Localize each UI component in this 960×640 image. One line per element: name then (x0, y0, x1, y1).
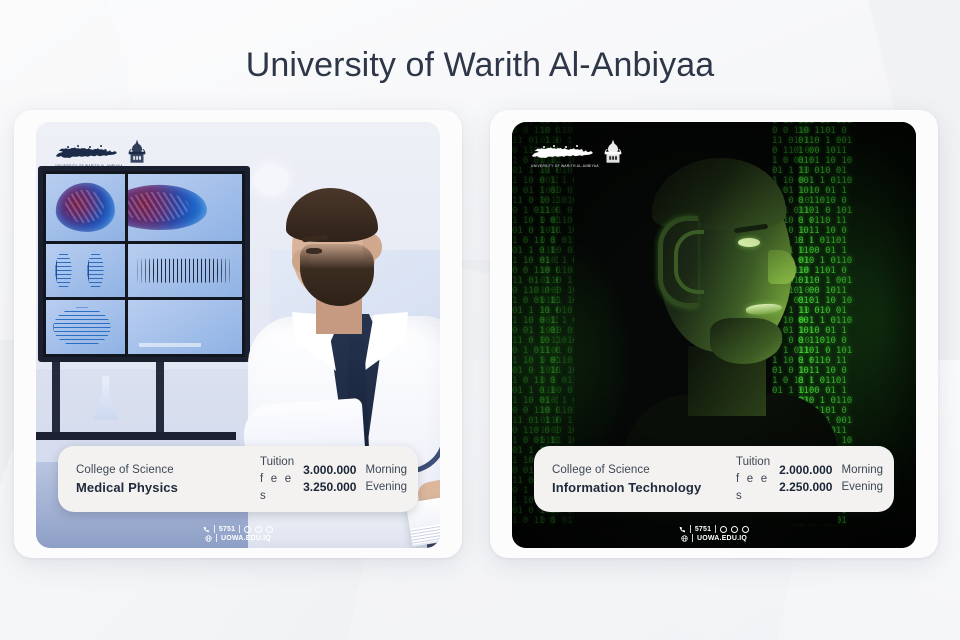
brain-scan-monitor (38, 166, 250, 362)
college-label: College of Science (552, 464, 724, 476)
fees-label-line2: f e e s (260, 471, 294, 505)
fee-amount-morning: 3.000.000 (303, 462, 356, 479)
program-info: College of Science Medical Physics (76, 464, 248, 495)
monitor-base (36, 432, 236, 440)
info-panel-information-technology: College of Science Information Technolog… (534, 446, 894, 512)
card-image-medical-physics: UNIVERSITY OF WARITH AL-ANBIYAA (36, 122, 440, 548)
fee-shift-evening: Evening (841, 479, 883, 496)
fees-block: Tuition f e e s 2.000.000 2.250.000 Morn… (736, 454, 883, 505)
card-information-technology[interactable]: 1 0 11 0 01 1 0 1 1 10 01 1 0 0 110 0 11… (490, 110, 938, 558)
fees-label: Tuition f e e s (260, 454, 294, 505)
scan-dna-pair (46, 244, 125, 298)
major-label: Medical Physics (76, 480, 248, 495)
scan-brain-axial (46, 174, 125, 241)
major-label: Information Technology (552, 480, 724, 495)
info-panel-medical-physics: College of Science Medical Physics Tuiti… (58, 446, 418, 512)
fees-label-line1: Tuition (736, 454, 770, 471)
fees-amounts: 3.000.000 3.250.000 (303, 462, 356, 496)
fee-shift-morning: Morning (841, 462, 883, 479)
fees-label-line1: Tuition (260, 454, 294, 471)
fees-shifts: Morning Evening (841, 462, 883, 496)
fee-amount-morning: 2.000.000 (779, 462, 832, 479)
program-info: College of Science Information Technolog… (552, 464, 724, 495)
fee-shift-evening: Evening (365, 479, 407, 496)
scan-readout (128, 300, 242, 354)
fee-shift-morning: Morning (365, 462, 407, 479)
lab-flask (93, 376, 119, 420)
fees-shifts: Morning Evening (365, 462, 407, 496)
fee-amount-evening: 3.250.000 (303, 479, 356, 496)
page-title: University of Warith Al-Anbiyaa (0, 46, 960, 85)
fees-label: Tuition f e e s (736, 454, 770, 505)
monitor-stand (156, 362, 164, 434)
fees-amounts: 2.000.000 2.250.000 (779, 462, 832, 496)
fee-amount-evening: 2.250.000 (779, 479, 832, 496)
card-image-information-technology: 1 0 11 0 01 1 0 1 1 10 01 1 0 0 110 0 11… (512, 122, 916, 548)
hair (286, 188, 378, 242)
scan-waveform (128, 244, 242, 298)
scan-brain-sagittal (128, 174, 242, 241)
monitor-stand (52, 362, 60, 434)
fees-label-line2: f e e s (736, 471, 770, 505)
scan-dna-wide (46, 300, 125, 354)
beard (300, 244, 374, 306)
fees-block: Tuition f e e s 3.000.000 3.250.000 Morn… (260, 454, 407, 505)
card-medical-physics[interactable]: UNIVERSITY OF WARITH AL-ANBIYAA (14, 110, 462, 558)
college-label: College of Science (76, 464, 248, 476)
